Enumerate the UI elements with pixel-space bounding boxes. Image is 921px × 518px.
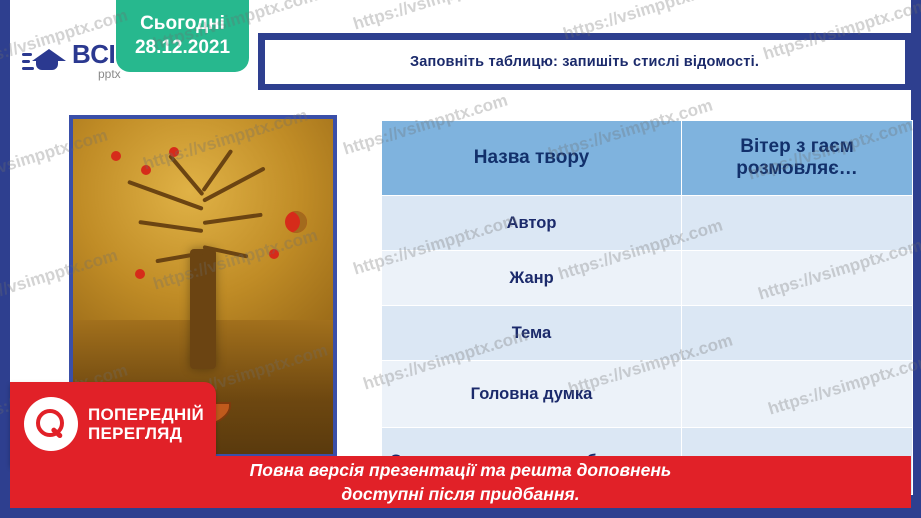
bottom-banner-line1: Повна версія презентації та решта доповн… xyxy=(250,458,672,482)
magnifier-icon xyxy=(24,397,78,451)
table-cell-value[interactable] xyxy=(682,361,913,428)
bottom-banner: Повна версія презентації та решта доповн… xyxy=(10,456,911,508)
date-badge-date: 28.12.2021 xyxy=(135,36,230,60)
table-row: Головна думка xyxy=(382,361,913,428)
table-cell-value[interactable] xyxy=(682,196,913,251)
table-cell-value[interactable] xyxy=(682,251,913,306)
table-cell-label: Автор xyxy=(382,196,682,251)
preview-badge-line1: ПОПЕРЕДНІЙ xyxy=(88,405,204,424)
table-header-cell-2: Вітер з гаєм розмовляє… xyxy=(682,121,913,196)
moon-shape xyxy=(285,211,307,233)
preview-badge-line2: ПЕРЕГЛЯД xyxy=(88,424,204,443)
table-row: Тема xyxy=(382,306,913,361)
page-title: Заповніть таблицю: запишіть стислі відом… xyxy=(410,54,759,70)
graduation-cap-icon xyxy=(22,43,66,77)
table-header-cell-1: Назва твору xyxy=(382,121,682,196)
info-table: Назва твору Вітер з гаєм розмовляє… Авто… xyxy=(381,120,894,495)
frame-left xyxy=(0,0,10,518)
header-inner: Заповніть таблицю: запишіть стислі відом… xyxy=(264,39,906,85)
date-badge: Сьогодні 28.12.2021 xyxy=(116,0,249,72)
table-row: Жанр xyxy=(382,251,913,306)
date-badge-label: Сьогодні xyxy=(140,12,225,36)
table-cell-label: Тема xyxy=(382,306,682,361)
slide: BCIM pptx Сьогодні 28.12.2021 Заповніть … xyxy=(0,0,921,518)
table-cell-label: Головна думка xyxy=(382,361,682,428)
table-header-row: Назва твору Вітер з гаєм розмовляє… xyxy=(382,121,913,196)
bottom-banner-line2: доступні після придбання. xyxy=(341,482,579,506)
preview-badge: ПОПЕРЕДНІЙ ПЕРЕГЛЯД xyxy=(10,382,216,466)
table-cell-label: Жанр xyxy=(382,251,682,306)
header-bar: Заповніть таблицю: запишіть стислі відом… xyxy=(258,33,911,90)
table-row: Автор xyxy=(382,196,913,251)
table-cell-value[interactable] xyxy=(682,306,913,361)
frame-bottom xyxy=(0,508,921,518)
preview-badge-text: ПОПЕРЕДНІЙ ПЕРЕГЛЯД xyxy=(88,405,204,443)
